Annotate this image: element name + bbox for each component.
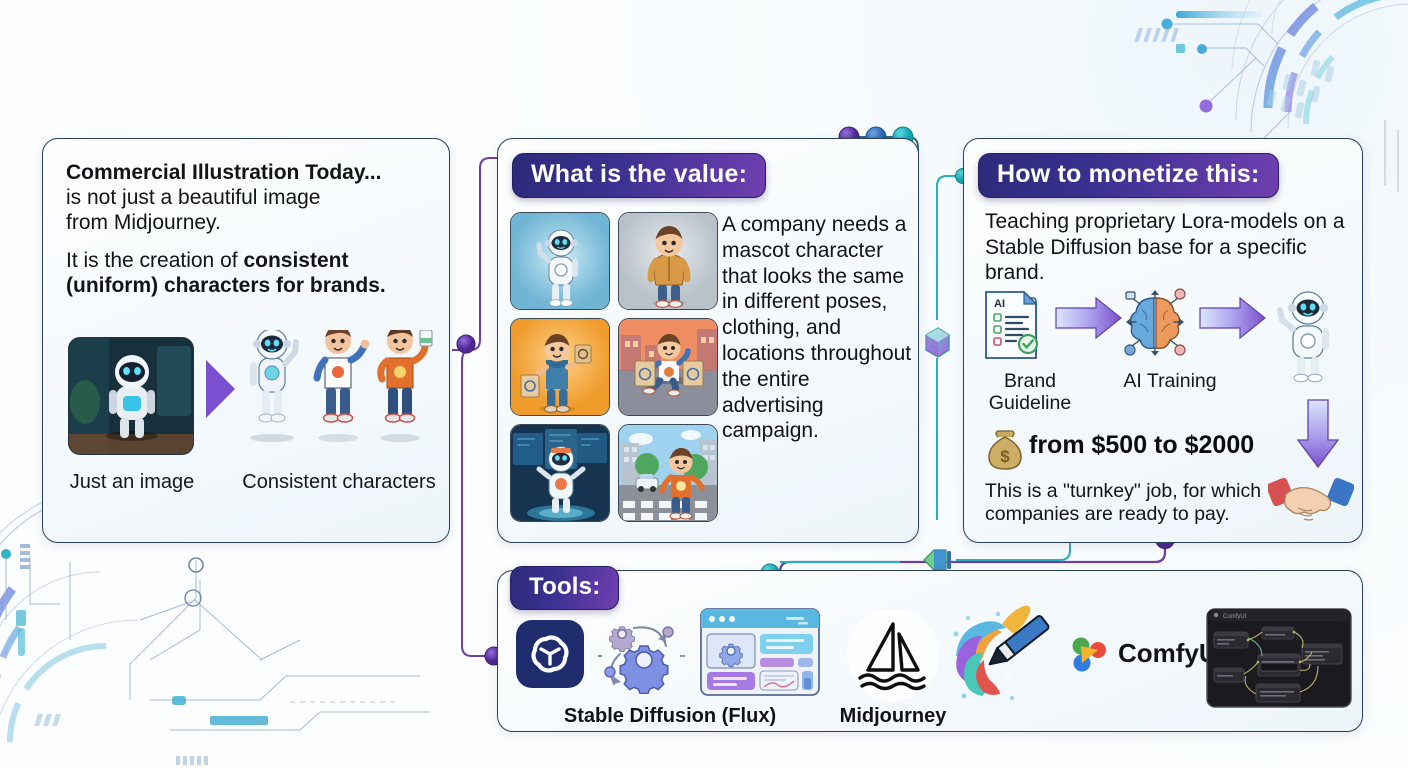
paint-brush-icon [952, 604, 1058, 704]
infographic-canvas: Commercial Illustration Today... is not … [0, 0, 1408, 768]
intro-text-block: Commercial Illustration Today... is not … [66, 160, 434, 298]
group-consistent-characters [240, 330, 440, 460]
pill-what-is-the-value: What is the value: [512, 153, 766, 198]
handshake-icon [1268, 470, 1354, 528]
thumb-boy-sunset-bg [618, 318, 718, 416]
tool-label-midjourney: Midjourney [830, 705, 956, 728]
value-body-text: A company needs a mascot character that … [722, 212, 912, 444]
pipeline-label-brand-guideline: Brand Guideline [978, 370, 1082, 414]
thumb-robot-blue-bg [510, 212, 610, 310]
gears-process-icon [596, 612, 686, 694]
app-window-icon [700, 608, 820, 696]
intro-line-1: Commercial Illustration Today... [66, 161, 381, 184]
intro-para2-c: (uniform) characters for brands. [66, 274, 386, 297]
money-range-text: from $500 to $2000 [1029, 431, 1254, 460]
ai-training-icon [1125, 289, 1185, 356]
openai-swirl-icon [516, 620, 584, 688]
cube-connector-icon [922, 326, 952, 358]
thumb-boy-grey-bg [618, 212, 718, 310]
intro-para2-a: It is the creation of [66, 249, 243, 272]
monetize-footer-text: This is a "turnkey" job, for which compa… [985, 480, 1295, 526]
sailboat-icon [846, 608, 940, 702]
monetize-body-text: Teaching proprietary Lora-models on a St… [985, 209, 1347, 286]
pill-how-to-monetize: How to monetize this: [978, 153, 1279, 198]
pipeline-arrow-2 [1200, 298, 1265, 338]
thumb-robot-lab-bg [510, 424, 610, 522]
svg-text:$: $ [1000, 447, 1010, 466]
mascot-robot-icon [1280, 292, 1329, 382]
caption-consistent-characters: Consistent characters [236, 470, 442, 495]
comfy-window-title: ComfyUI [1223, 614, 1247, 620]
comfyui-logo-icon [1068, 632, 1112, 676]
thumb-boy-orange-bg [510, 318, 610, 416]
svg-text:AI: AI [994, 298, 1005, 310]
intro-line-2: is not just a beautiful image [66, 186, 320, 209]
pill-tools: Tools: [510, 566, 619, 610]
pipeline-arrow-1 [1056, 298, 1121, 338]
intro-para2-b: consistent [243, 249, 348, 272]
thumbnail-single-image [68, 337, 194, 455]
comfyui-node-graph-screenshot: ComfyUI [1206, 608, 1352, 708]
arrow-right-icon [203, 358, 237, 420]
tool-label-stable-diffusion: Stable Diffusion (Flux) [500, 705, 840, 728]
value-thumbnail-grid [510, 212, 718, 522]
caption-just-an-image: Just an image [58, 470, 206, 495]
pipeline-label-ai-training: AI Training [1100, 370, 1240, 392]
intro-line-3: from Midjourney. [66, 211, 221, 234]
thumb-boy-street-bg [618, 424, 718, 522]
brand-guideline-icon: AI [986, 292, 1037, 358]
